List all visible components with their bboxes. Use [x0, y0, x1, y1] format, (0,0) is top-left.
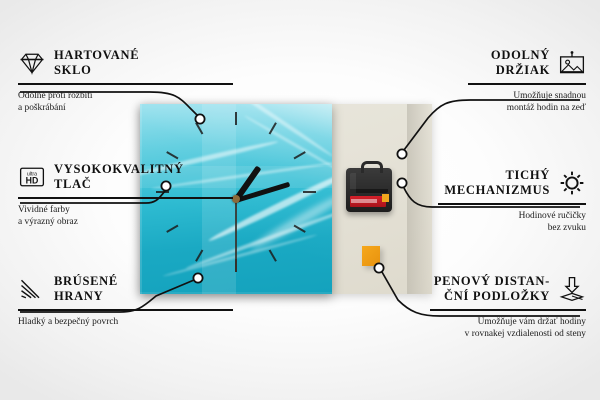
feature-title: ODOLNÝ DRŽIAK: [491, 48, 550, 78]
wire-node-mechanism: [397, 178, 406, 187]
feature-divider: [18, 83, 233, 85]
feature-description: Odolné proti rozbití a poškrábání: [18, 90, 233, 115]
feature-desc-line1: Odolné proti rozbití: [18, 90, 233, 103]
feature-title: TICHÝ MECHANIZMUS: [444, 168, 550, 198]
feature-desc-line1: Umožňuje snadnou: [468, 90, 586, 103]
svg-text:HD: HD: [26, 176, 39, 186]
gear-icon: [558, 169, 586, 197]
feature-header: PENOVÝ DISTAN- ČNÍ PODLOŽKY: [430, 274, 586, 304]
wire-node-tempered-glass: [195, 114, 204, 123]
feature-title-line2: DRŽIAK: [491, 63, 550, 78]
infographic-canvas: HARTOVANÉ SKLO Odolné proti rozbití a po…: [0, 0, 600, 400]
feature-desc-line2: v rovnakej vzdialenosti od steny: [430, 328, 586, 341]
feature-polished-edges: BRÚSENÉ HRANY Hladký a bezpečný povrch: [18, 274, 233, 328]
feature-description: Hodinové ručičky bez zvuku: [438, 210, 586, 235]
picture-frame-icon: [558, 49, 586, 77]
feature-title-line2: HRANY: [54, 289, 118, 304]
feature-description: Umožňuje snadnou montáž hodin na zeď: [468, 90, 586, 115]
feature-divider: [438, 203, 586, 205]
feature-divider: [18, 309, 233, 311]
feature-title-line2: ČNÍ PODLOŽKY: [434, 289, 550, 304]
feature-desc-line1: Umožňuje vám držať hodiny: [430, 316, 586, 329]
feature-desc-line2: a výrazný obraz: [18, 216, 233, 229]
feature-description: Vividné farby a výrazný obraz: [18, 204, 233, 229]
feature-divider: [468, 83, 586, 85]
feature-header: BRÚSENÉ HRANY: [18, 274, 233, 304]
feature-description: Umožňuje vám držať hodiny v rovnakej vzd…: [430, 316, 586, 341]
feature-high-quality-print: ultra HD VYSOKOKVALITNÝ TLAČ Vividné far…: [18, 162, 233, 229]
feature-desc-line2: bez zvuku: [438, 222, 586, 235]
feature-desc-line1: Hodinové ručičky: [438, 210, 586, 223]
feature-title-line1: BRÚSENÉ: [54, 274, 118, 289]
feature-title: VYSOKOKVALITNÝ TLAČ: [54, 162, 184, 192]
feature-divider: [18, 197, 233, 199]
feature-description: Hladký a bezpečný povrch: [18, 316, 233, 329]
feature-title: HARTOVANÉ SKLO: [54, 48, 139, 78]
feature-title-line1: ODOLNÝ: [491, 48, 550, 63]
feature-tempered-glass: HARTOVANÉ SKLO Odolné proti rozbití a po…: [18, 48, 233, 115]
feature-title-line1: HARTOVANÉ: [54, 48, 139, 63]
feature-desc-line1: Hladký a bezpečný povrch: [18, 316, 233, 329]
feature-title-line1: VYSOKOKVALITNÝ: [54, 162, 184, 177]
feature-durable-holder: ODOLNÝ DRŽIAK Umožňuje snadnou montáž ho…: [468, 48, 586, 115]
feature-title-line2: MECHANIZMUS: [444, 183, 550, 198]
wire-node-foam: [374, 263, 383, 272]
wire-node-holder: [397, 149, 406, 158]
feature-foam-spacers: PENOVÝ DISTAN- ČNÍ PODLOŽKY Umožňuje vám…: [430, 274, 586, 341]
feature-title-line2: TLAČ: [54, 177, 184, 192]
feature-title-line2: SKLO: [54, 63, 139, 78]
feature-desc-line1: Vividné farby: [18, 204, 233, 217]
feature-header: HARTOVANÉ SKLO: [18, 48, 233, 78]
feature-header: ODOLNÝ DRŽIAK: [468, 48, 586, 78]
feature-header: ultra HD VYSOKOKVALITNÝ TLAČ: [18, 162, 233, 192]
feature-title: PENOVÝ DISTAN- ČNÍ PODLOŽKY: [434, 274, 550, 304]
arrow-down-layers-icon: [558, 275, 586, 303]
ultra-hd-icon: ultra HD: [18, 163, 46, 191]
feature-header: TICHÝ MECHANIZMUS: [438, 168, 586, 198]
feature-title-line1: PENOVÝ DISTAN-: [434, 274, 550, 289]
diagonal-lines-icon: [18, 275, 46, 303]
feature-divider: [430, 309, 586, 311]
diamond-icon: [18, 49, 46, 77]
feature-title: BRÚSENÉ HRANY: [54, 274, 118, 304]
feature-silent-mechanism: TICHÝ MECHANIZMUS Hodinové ručičky bez z…: [438, 168, 586, 235]
feature-desc-line2: a poškrábání: [18, 102, 233, 115]
feature-desc-line2: montáž hodin na zeď: [468, 102, 586, 115]
feature-title-line1: TICHÝ: [444, 168, 550, 183]
